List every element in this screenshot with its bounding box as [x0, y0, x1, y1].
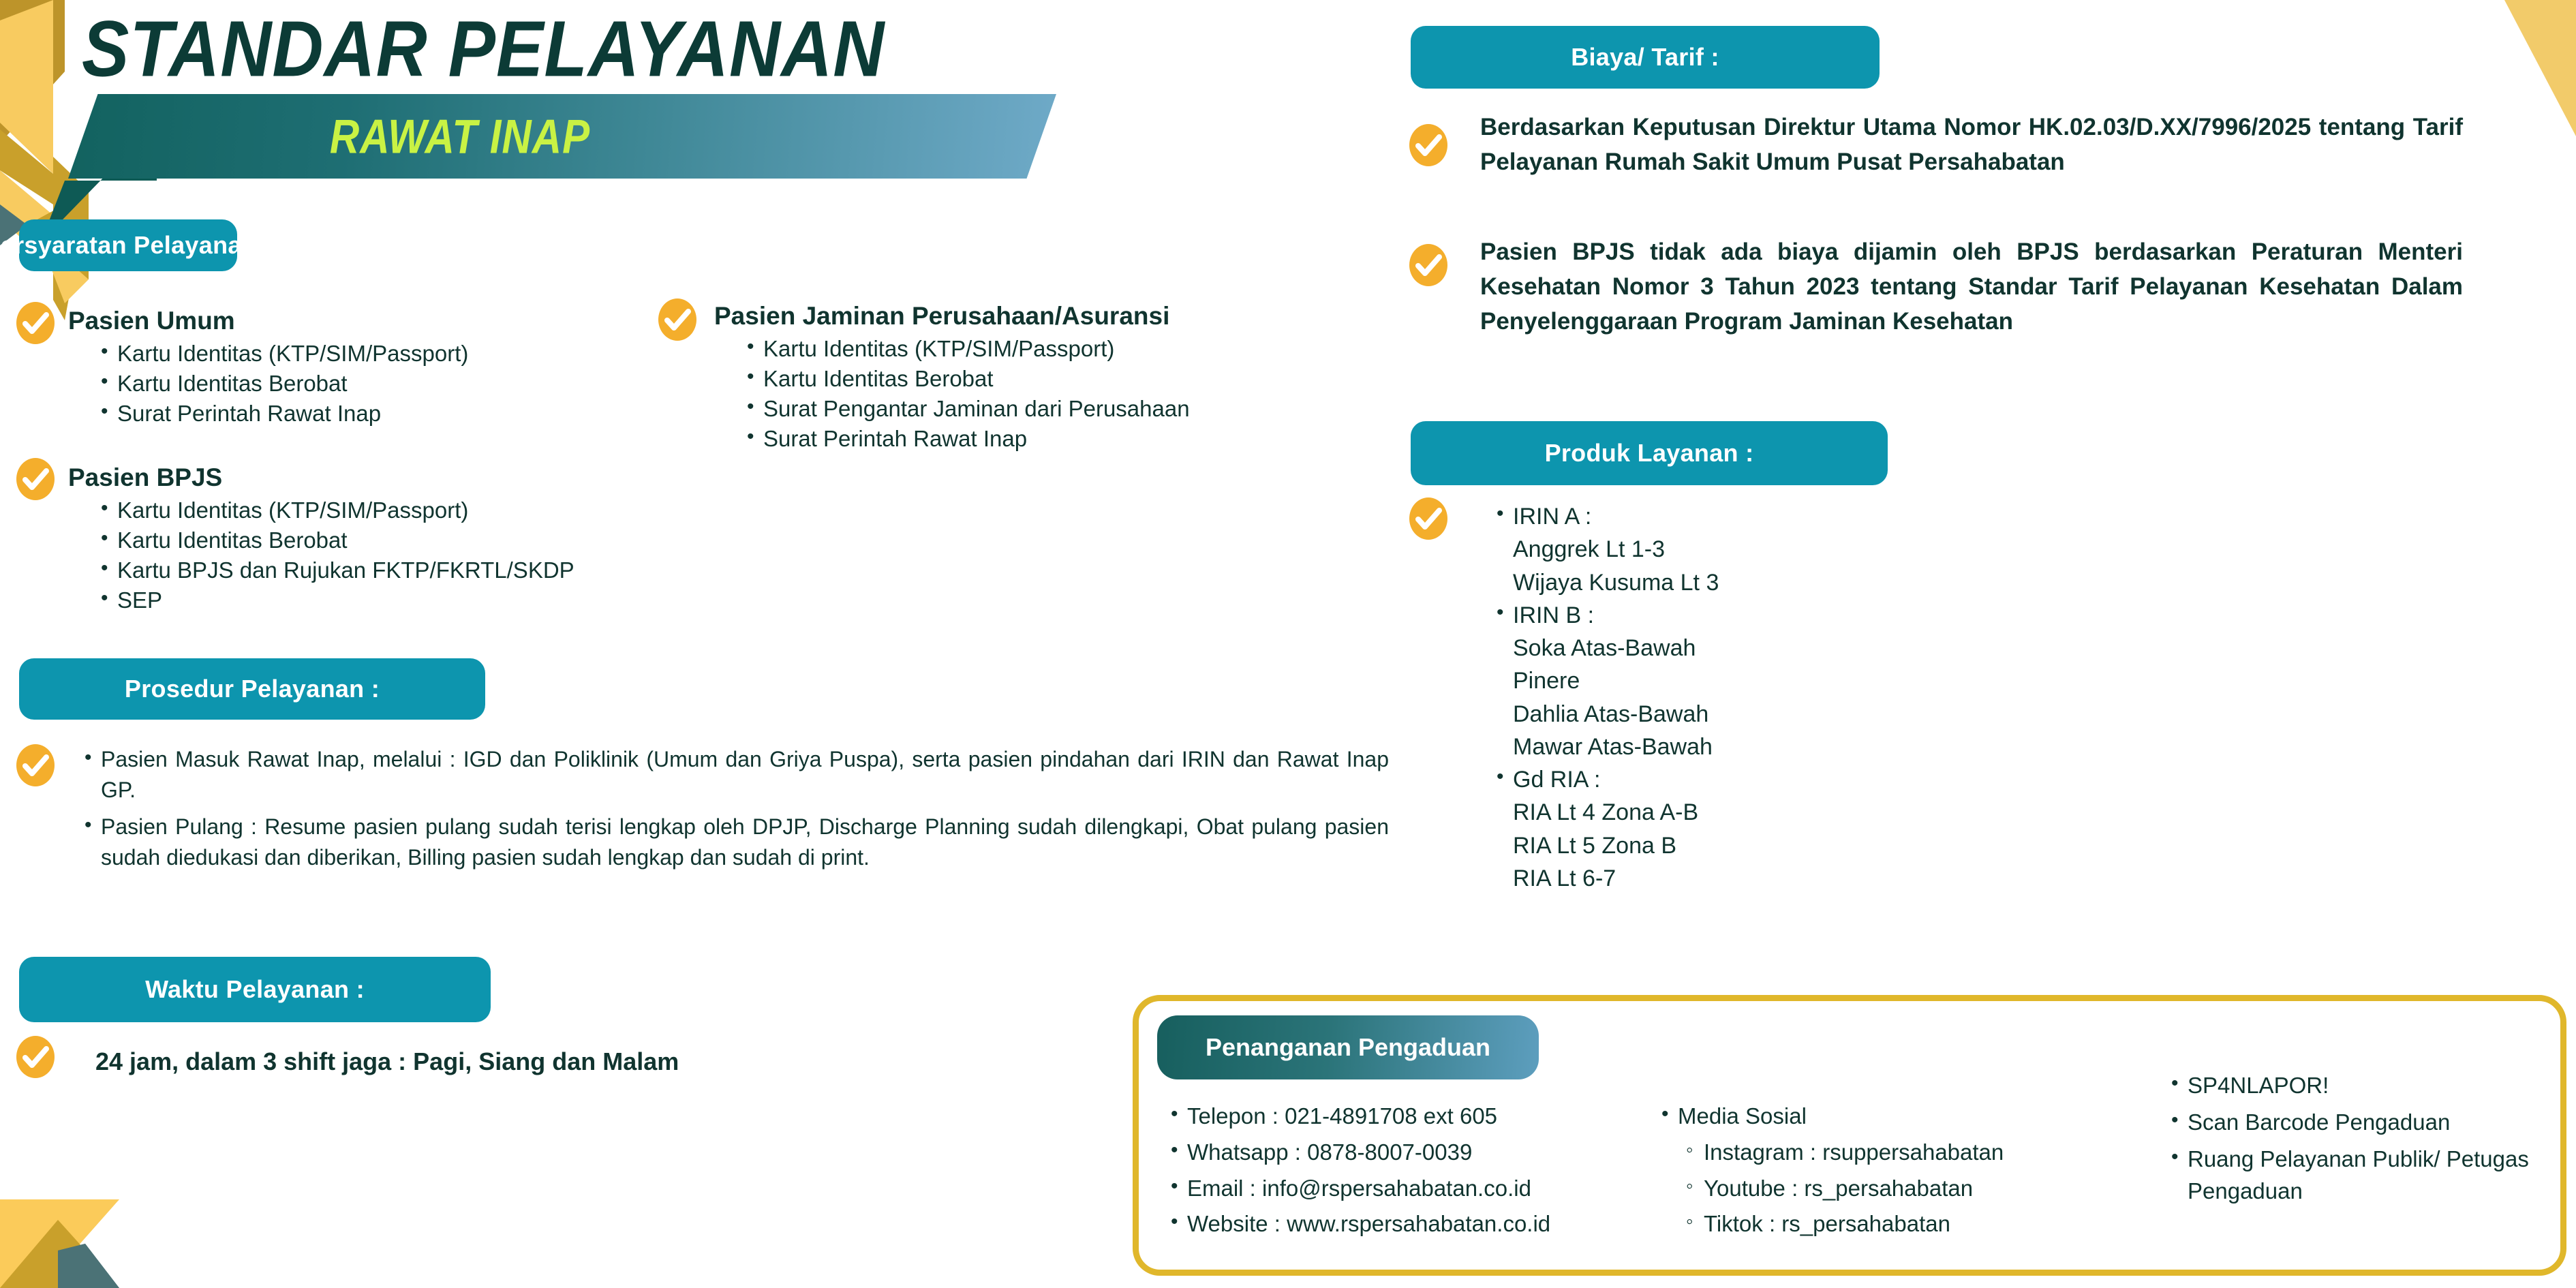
list-item: Surat Perintah Rawat Inap	[97, 399, 613, 429]
produk-sublist-0: Anggrek Lt 1-3 Wijaya Kusuma Lt 3	[1513, 533, 2174, 599]
persyaratan-group-umum: Pasien Umum Kartu Identitas (KTP/SIM/Pas…	[68, 307, 613, 429]
section-heading-pengaduan: Penanganan Pengaduan	[1157, 1015, 1539, 1079]
list-item: Surat Perintah Rawat Inap	[743, 424, 1355, 454]
group-title: Pasien Jaminan Perusahaan/Asuransi	[714, 302, 1355, 330]
biaya-item-0: Berdasarkan Keputusan Direktur Utama Nom…	[1480, 110, 2463, 180]
list-item: Pasien Pulang : Resume pasien pulang sud…	[80, 812, 1389, 874]
list-item: Anggrek Lt 1-3	[1513, 533, 2174, 566]
group-list: Kartu Identitas (KTP/SIM/Passport) Kartu…	[743, 334, 1355, 454]
produk-group-label: Gd RIA :	[1513, 767, 1601, 793]
prosedur-list: Pasien Masuk Rawat Inap, melalui : IGD d…	[80, 744, 1389, 874]
biaya-item-1: Pasien BPJS tidak ada biaya dijamin oleh…	[1480, 235, 2463, 339]
group-list: Kartu Identitas (KTP/SIM/Passport) Kartu…	[97, 339, 613, 429]
check-icon	[658, 298, 696, 341]
list-item: Telepon : 021-4891708 ext 605	[1167, 1099, 1712, 1135]
check-icon	[1409, 497, 1447, 540]
produk-list-wrap: IRIN A : Anggrek Lt 1-3 Wijaya Kusuma Lt…	[1492, 500, 2174, 895]
group-title: Pasien Umum	[68, 307, 613, 335]
produk-group-label: IRIN B :	[1513, 602, 1594, 628]
produk-group-label: IRIN A :	[1513, 504, 1591, 530]
list-item: Tiktok : rs_persahabatan	[1683, 1206, 2175, 1242]
list-item: Ruang Pelayanan Publik/ Petugas Pengadua…	[2167, 1144, 2549, 1206]
social-label-list: Media Sosial	[1657, 1099, 2175, 1135]
list-item: Kartu Identitas (KTP/SIM/Passport)	[97, 495, 654, 525]
section-heading-produk: Produk Layanan :	[1411, 421, 1888, 485]
persyaratan-group-bpjs: Pasien BPJS Kartu Identitas (KTP/SIM/Pas…	[68, 463, 654, 615]
section-heading-prosedur: Prosedur Pelayanan :	[19, 658, 485, 720]
list-item: Kartu Identitas (KTP/SIM/Passport)	[743, 334, 1355, 364]
poster-root: STANDAR PELAYANAN RAWAT INAP Persyaratan…	[0, 0, 2576, 1288]
list-item: SEP	[97, 585, 654, 615]
list-item: Mawar Atas-Bawah	[1513, 731, 2174, 763]
check-icon	[16, 1036, 55, 1078]
list-item: SP4NLAPOR!	[2167, 1070, 2549, 1101]
list-item: Wijaya Kusuma Lt 3	[1513, 566, 2174, 599]
list-item: Whatsapp : 0878-8007-0039	[1167, 1135, 1712, 1171]
contact-list: Telepon : 021-4891708 ext 605 Whatsapp :…	[1167, 1099, 1712, 1242]
check-icon	[16, 302, 55, 344]
pengaduan-social: Media Sosial Instagram : rsuppersahabata…	[1657, 1099, 2175, 1242]
list-item: Pinere	[1513, 664, 2174, 697]
check-icon	[1409, 124, 1447, 166]
check-icon	[16, 458, 55, 500]
group-list: Kartu Identitas (KTP/SIM/Passport) Kartu…	[97, 495, 654, 615]
page-title: STANDAR PELAYANAN	[82, 4, 885, 95]
waktu-text: 24 jam, dalam 3 shift jaga : Pagi, Siang…	[95, 1048, 1049, 1075]
pengaduan-channels: SP4NLAPOR! Scan Barcode Pengaduan Ruang …	[2167, 1070, 2549, 1207]
list-item: RIA Lt 6-7	[1513, 862, 2174, 895]
list-item: Soka Atas-Bawah	[1513, 632, 2174, 664]
list-item: Pasien Masuk Rawat Inap, melalui : IGD d…	[80, 744, 1389, 806]
list-item: Email : info@rspersahabatan.co.id	[1167, 1171, 1712, 1207]
produk-sublist-1: Soka Atas-Bawah Pinere Dahlia Atas-Bawah…	[1513, 632, 2174, 763]
list-item: Surat Pengantar Jaminan dari Perusahaan	[743, 394, 1355, 424]
list-item: Media Sosial	[1657, 1099, 2175, 1135]
list-item: Gd RIA :	[1492, 763, 2174, 796]
section-heading-waktu: Waktu Pelayanan :	[19, 957, 491, 1022]
list-item: Kartu Identitas Berobat	[97, 369, 613, 399]
section-heading-biaya: Biaya/ Tarif :	[1411, 26, 1880, 89]
group-title: Pasien BPJS	[68, 463, 654, 491]
list-item: Kartu Identitas Berobat	[97, 525, 654, 555]
list-item: RIA Lt 5 Zona B	[1513, 829, 2174, 862]
produk-list: Gd RIA :	[1492, 763, 2174, 796]
list-item: Kartu BPJS dan Rujukan FKTP/FKRTL/SKDP	[97, 555, 654, 585]
list-item: Scan Barcode Pengaduan	[2167, 1107, 2549, 1138]
list-item: RIA Lt 4 Zona A-B	[1513, 796, 2174, 829]
produk-list: IRIN B :	[1492, 599, 2174, 632]
list-item: Instagram : rsuppersahabatan	[1683, 1135, 2175, 1171]
social-list: Instagram : rsuppersahabatan Youtube : r…	[1683, 1135, 2175, 1242]
page-subtitle: RAWAT INAP	[330, 108, 590, 164]
persyaratan-group-asuransi: Pasien Jaminan Perusahaan/Asuransi Kartu…	[714, 302, 1355, 454]
produk-list: IRIN A :	[1492, 500, 2174, 533]
prosedur-list-wrap: Pasien Masuk Rawat Inap, melalui : IGD d…	[80, 744, 1389, 874]
page-subtitle-banner: RAWAT INAP	[68, 94, 1056, 179]
list-item: Website : www.rspersahabatan.co.id	[1167, 1206, 1712, 1242]
channel-list: SP4NLAPOR! Scan Barcode Pengaduan Ruang …	[2167, 1070, 2549, 1207]
list-item: Kartu Identitas (KTP/SIM/Passport)	[97, 339, 613, 369]
check-icon	[16, 744, 55, 786]
list-item: Youtube : rs_persahabatan	[1683, 1171, 2175, 1207]
list-item: Dahlia Atas-Bawah	[1513, 698, 2174, 731]
list-item: Kartu Identitas Berobat	[743, 364, 1355, 394]
check-icon	[1409, 244, 1447, 286]
list-item: IRIN A :	[1492, 500, 2174, 533]
pengaduan-contacts: Telepon : 021-4891708 ext 605 Whatsapp :…	[1167, 1099, 1712, 1242]
list-item: IRIN B :	[1492, 599, 2174, 632]
corner-decoration-bottom-left	[0, 1131, 177, 1288]
section-heading-persyaratan: Persyaratan Pelayanan :	[19, 219, 237, 271]
produk-sublist-2: RIA Lt 4 Zona A-B RIA Lt 5 Zona B RIA Lt…	[1513, 796, 2174, 895]
